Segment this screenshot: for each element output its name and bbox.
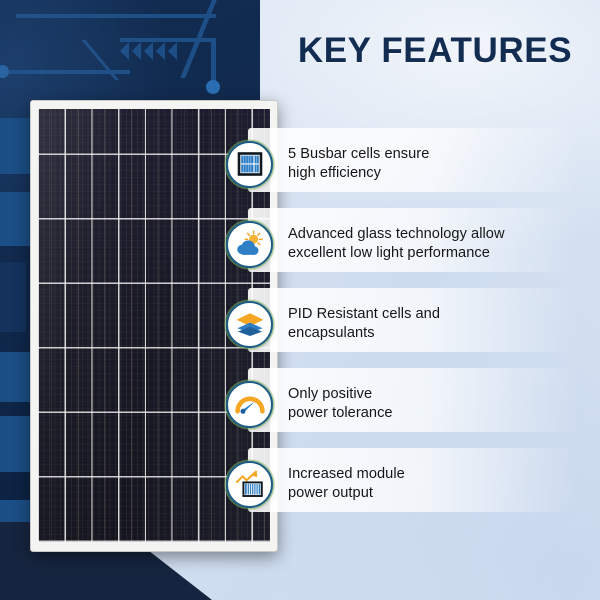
gauge-meter-icon [226,381,273,428]
circuit-trace [16,14,216,18]
page-title: KEY FEATURES [282,31,588,71]
feature-list: 5 Busbar cells ensure high efficiency [226,124,586,524]
feature-item-busbar: 5 Busbar cells ensure high efficiency [226,124,586,204]
feature-text: Advanced glass technology allow excellen… [288,225,505,264]
circuit-trace [211,38,216,86]
panel-growth-arrow-icon [226,461,273,508]
circuit-trace [180,0,220,78]
chevron-left-icon [144,42,153,60]
feature-item-glass: Advanced glass technology allow excellen… [226,204,586,284]
feature-text: 5 Busbar cells ensure high efficiency [288,145,429,184]
feature-text: PID Resistant cells and encapsulants [288,305,440,344]
edge-block [0,262,26,332]
feature-text: Increased module power output [288,465,405,504]
edge-block [0,416,34,472]
circuit-trace [0,70,130,74]
sun-behind-cloud-icon [226,221,273,268]
edge-block [0,192,30,246]
layers-stack-icon [226,301,273,348]
chevron-left-icon [120,42,129,60]
circuit-trace [120,38,216,42]
key-features-poster: KEY FEATURES [0,0,600,600]
feature-item-pid: PID Resistant cells and encapsulants [226,284,586,364]
feature-item-output: Increased module power output [226,444,586,524]
chevron-left-icon [168,42,177,60]
feature-item-tolerance: Only positive power tolerance [226,364,586,444]
circuit-trace [81,40,119,80]
chevron-left-icon [132,42,141,60]
chevron-left-icon [156,42,165,60]
edge-block [0,118,34,174]
circuit-node-dot [206,80,220,94]
solar-cell-grid-icon [226,141,273,188]
feature-text: Only positive power tolerance [288,385,393,424]
circuit-node-dot [0,65,9,78]
edge-block [0,352,30,402]
